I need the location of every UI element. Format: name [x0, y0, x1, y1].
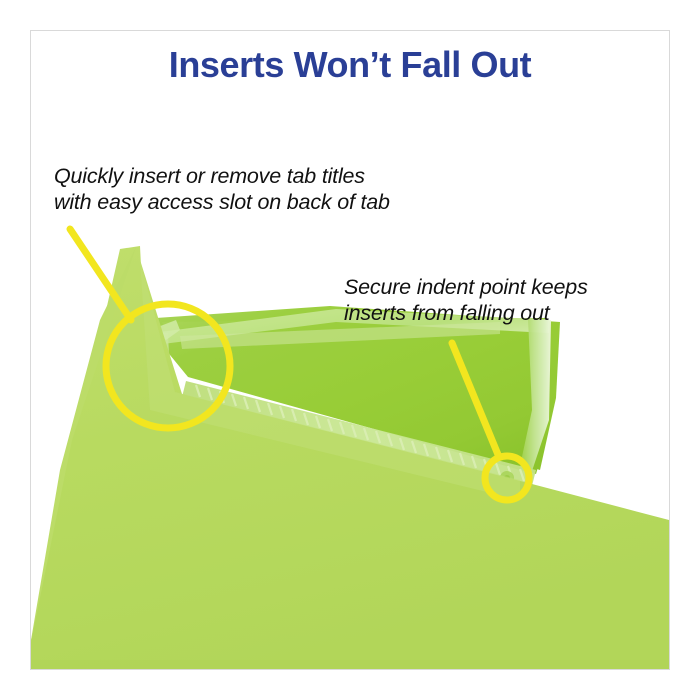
divider-bottom-shadow	[31, 660, 669, 672]
page-title: Inserts Won’t Fall Out	[0, 46, 700, 85]
infographic-canvas: Inserts Won’t Fall Out Quickly insert or…	[0, 0, 700, 700]
callout-text-right: Secure indent point keeps inserts from f…	[344, 274, 588, 326]
callout-text-left: Quickly insert or remove tab titles with…	[54, 163, 390, 215]
product-illustration	[0, 0, 700, 700]
